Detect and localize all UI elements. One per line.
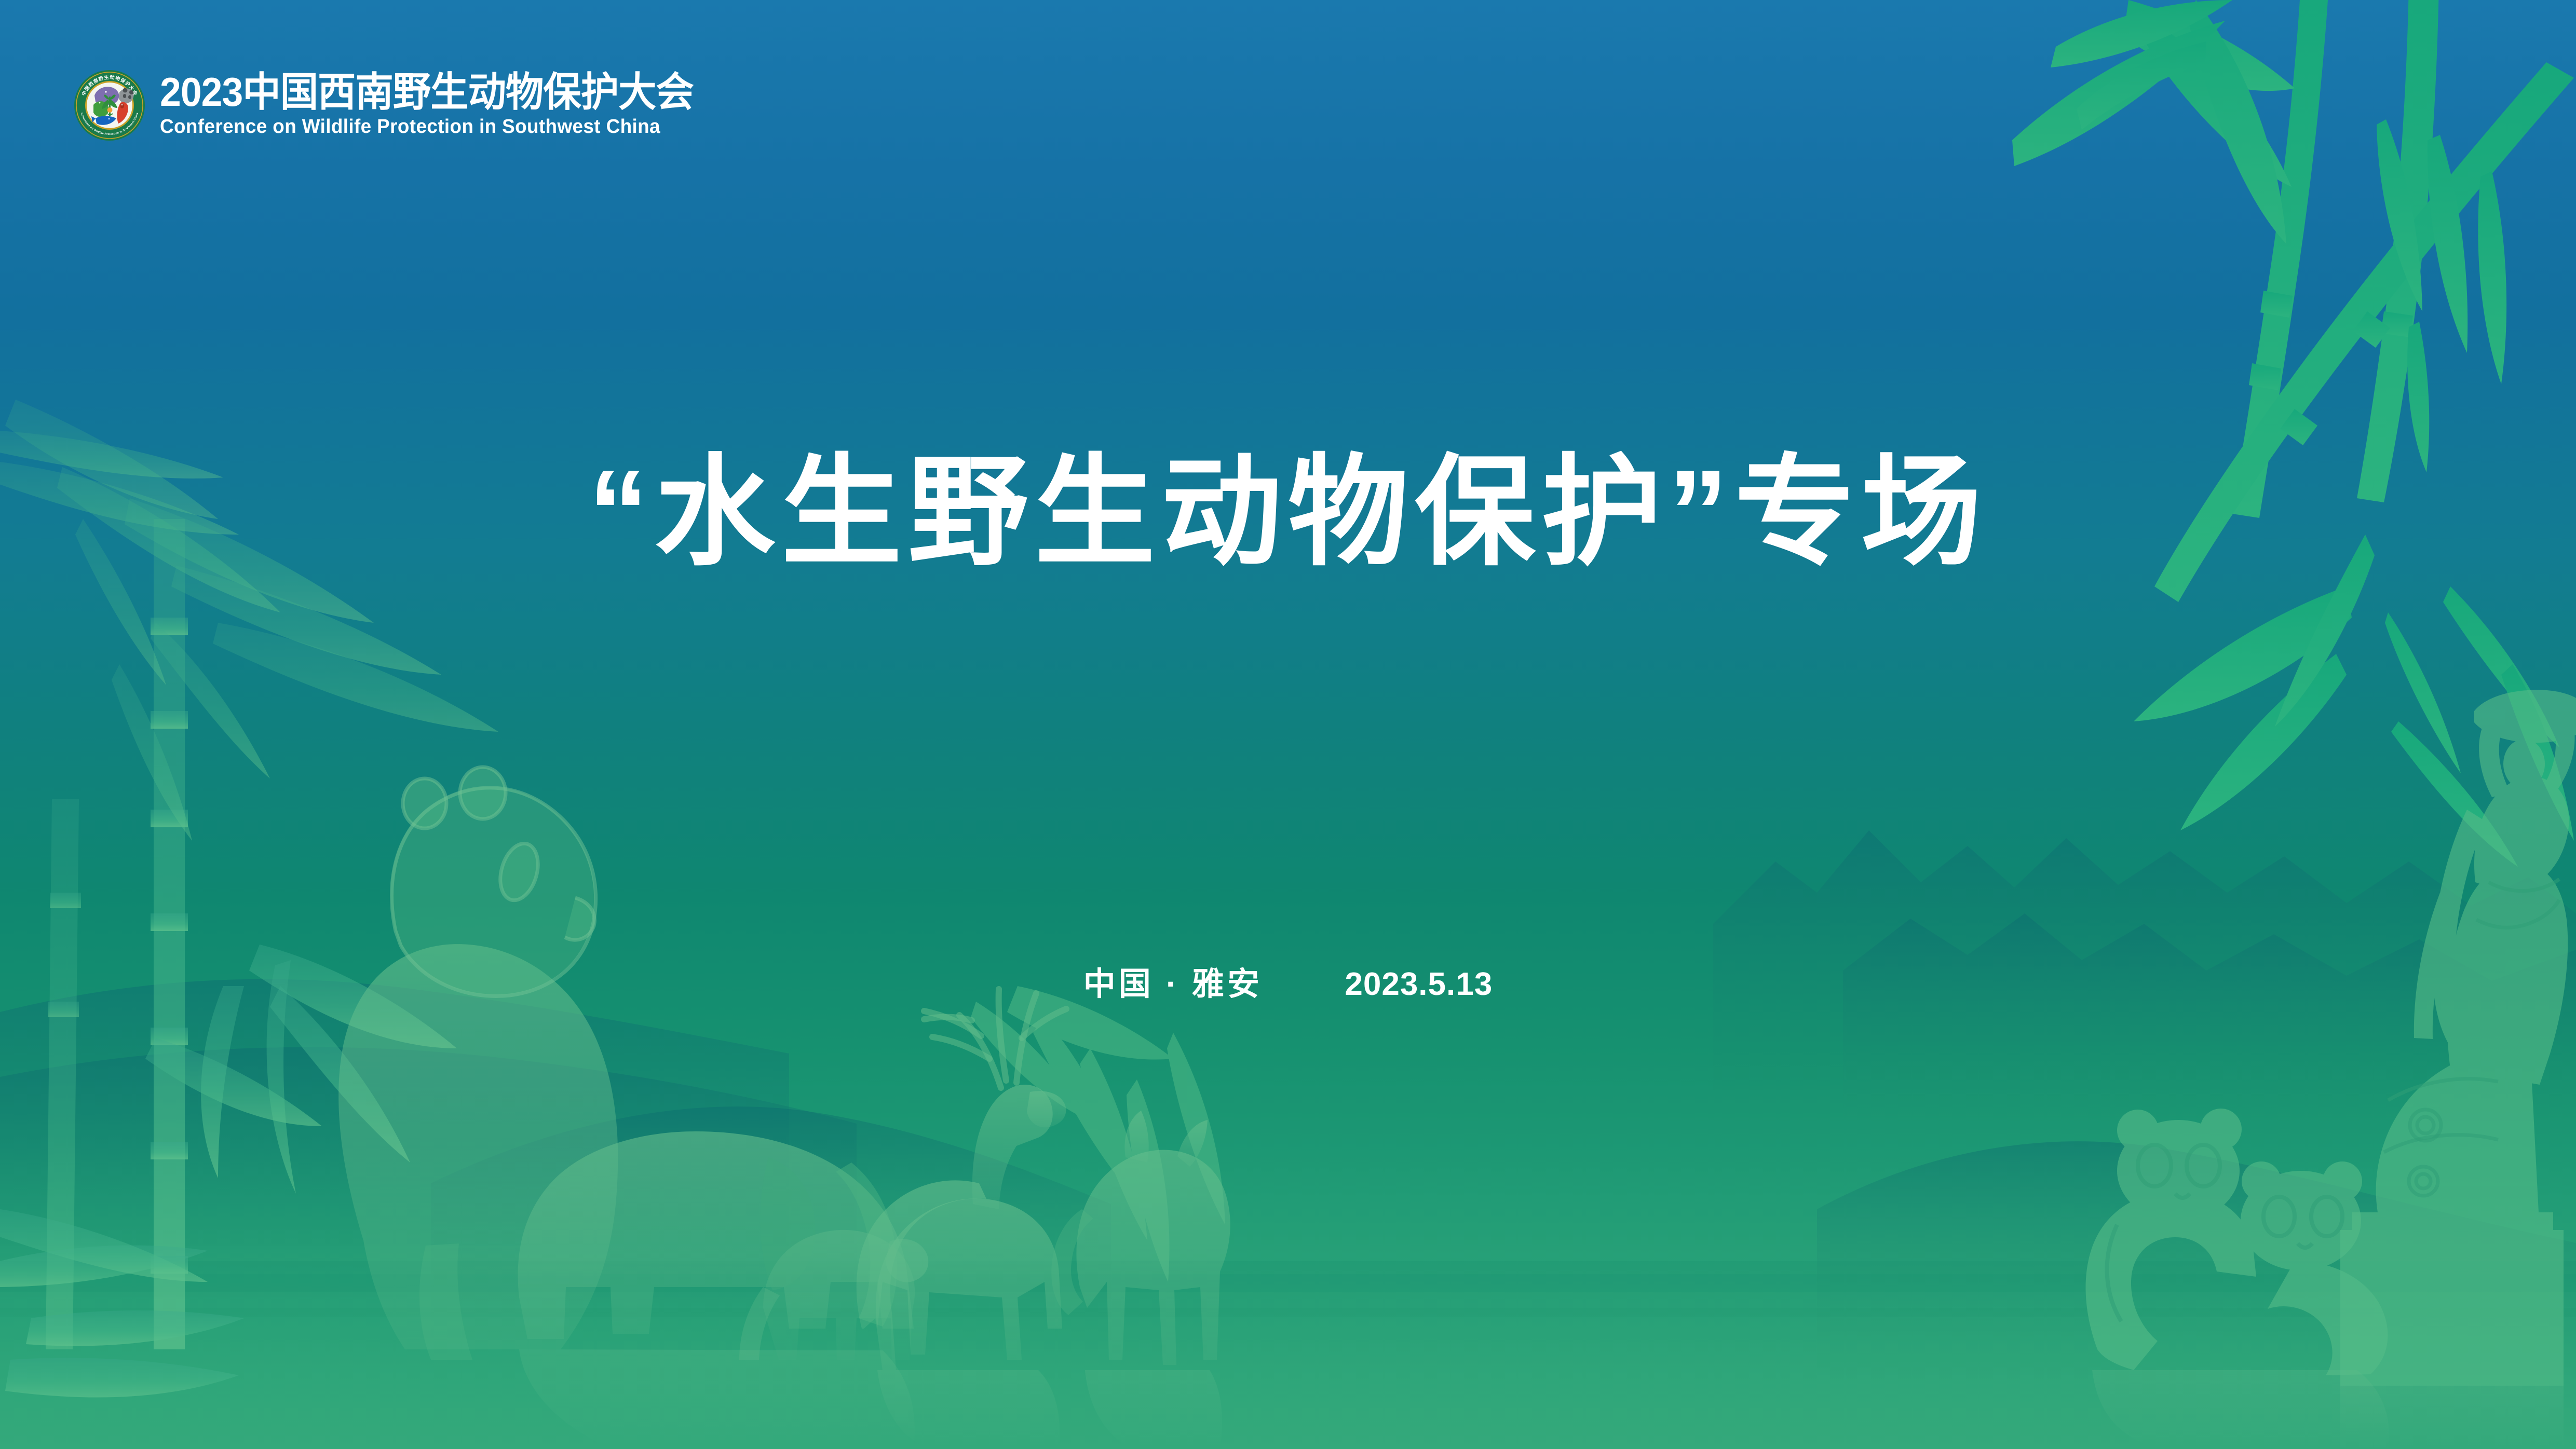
animal-silhouettes-layer xyxy=(0,0,2576,1449)
poster-canvas: 中国西南野生动物保护大会 Conference on Wildlife Prot… xyxy=(0,0,2576,1449)
event-meta-line: 中国 · 雅安 2023.5.13 xyxy=(0,958,2576,1004)
conference-emblem-logo: 中国西南野生动物保护大会 Conference on Wildlife Prot… xyxy=(73,69,146,142)
nuwa-statue-silhouette xyxy=(2340,690,2576,1386)
header-title-en: Conference on Wildlife Protection in Sou… xyxy=(160,116,711,138)
event-venue: 中国 · 雅安 xyxy=(1083,966,1263,1002)
page-title: “水生野生动物保护”专场 xyxy=(0,446,2576,579)
header-text-block: 2023中国西南野生动物保护大会 Conference on Wildlife … xyxy=(160,73,728,138)
event-date: 2023.5.13 xyxy=(1345,966,1493,1002)
header-title-cn: 2023中国西南野生动物保护大会 xyxy=(160,73,694,111)
animal-reflections xyxy=(519,1349,1222,1449)
conference-header: 中国西南野生动物保护大会 Conference on Wildlife Prot… xyxy=(73,69,728,142)
